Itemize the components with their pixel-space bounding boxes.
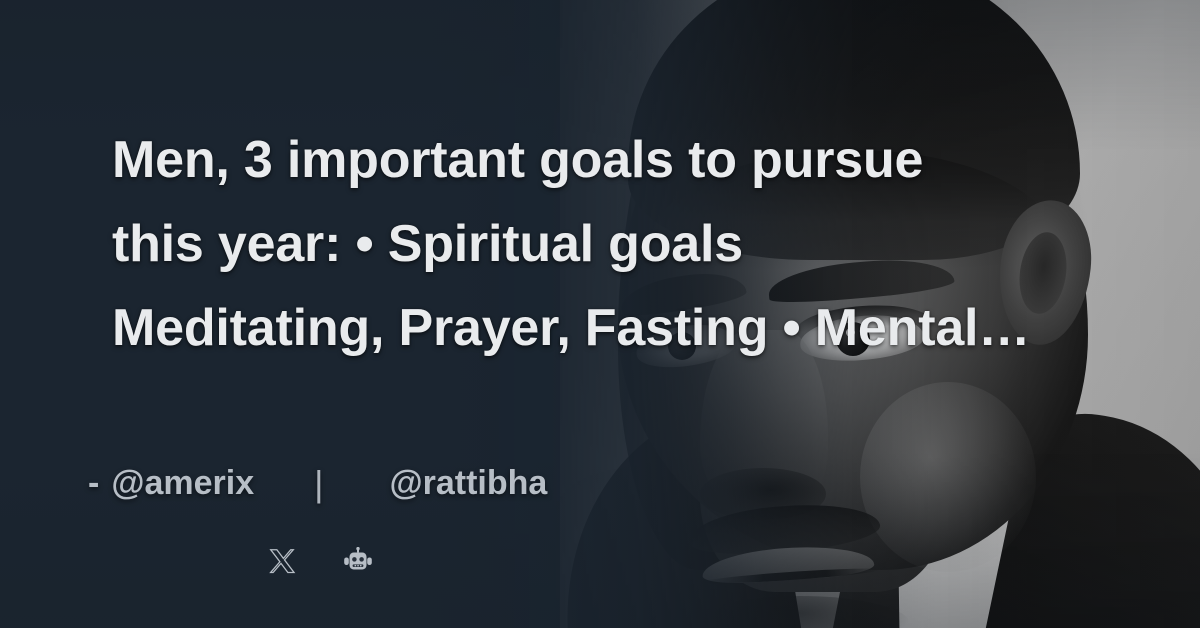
x-logo-icon [268, 469, 298, 499]
robot-icon [341, 469, 375, 499]
card-content: Men, 3 important goals to pursue this ye… [0, 0, 1200, 628]
attribution-separator: | [314, 466, 323, 502]
attribution-dash: - [88, 464, 99, 503]
author-handle: @amerix [111, 464, 254, 503]
social-share-card: Men, 3 important goals to pursue this ye… [0, 0, 1200, 628]
service-handle: @rattibha [389, 464, 547, 503]
quote-text: Men, 3 important goals to pursue this ye… [112, 118, 1152, 370]
attribution-line: - @amerix | [88, 464, 547, 503]
